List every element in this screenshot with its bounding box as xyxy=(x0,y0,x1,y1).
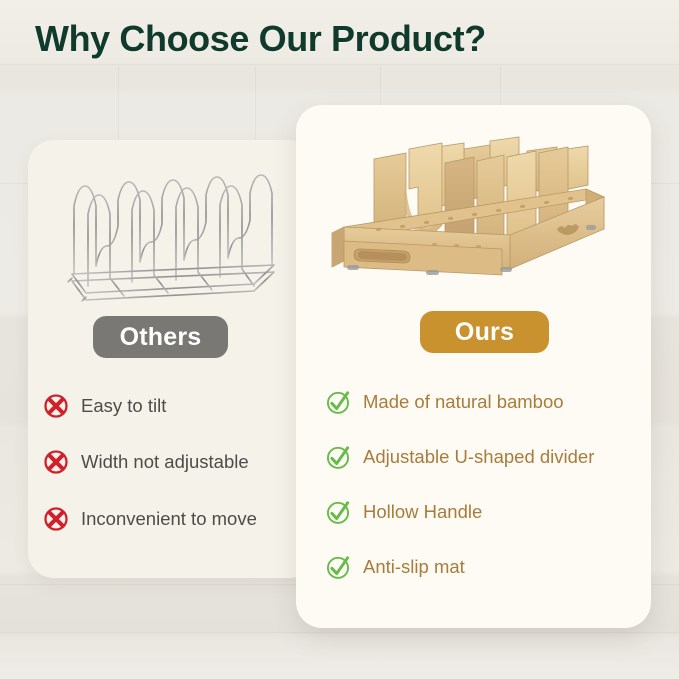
feature-label: Hollow Handle xyxy=(363,501,482,523)
feature-label: Inconvenient to move xyxy=(81,508,257,530)
badge-ours-label: Ours xyxy=(455,318,514,347)
badge-ours: Ours xyxy=(420,311,549,353)
product-image-ours xyxy=(314,117,634,307)
badge-others-label: Others xyxy=(120,323,202,352)
comparison-card-ours xyxy=(296,105,651,628)
feature-label: Easy to tilt xyxy=(81,395,166,417)
chrome-wire-rack-icon xyxy=(58,162,290,310)
feature-row-others-2: Inconvenient to move xyxy=(42,505,257,533)
x-circle-icon xyxy=(42,392,70,420)
product-image-others xyxy=(58,162,290,310)
infographic-page: Why Choose Our Product? xyxy=(0,0,679,679)
background-floor-line xyxy=(0,632,679,633)
check-circle-icon xyxy=(324,553,352,581)
x-circle-icon xyxy=(42,505,70,533)
feature-label: Anti-slip mat xyxy=(363,556,465,578)
feature-label: Made of natural bamboo xyxy=(363,391,564,413)
feature-row-others-1: Width not adjustable xyxy=(42,448,249,476)
feature-label: Width not adjustable xyxy=(81,451,249,473)
feature-row-ours-2: Hollow Handle xyxy=(324,498,482,526)
background-wall-seam xyxy=(0,64,679,65)
bamboo-pot-lid-organizer-icon xyxy=(314,117,634,307)
feature-row-ours-1: Adjustable U-shaped divider xyxy=(324,443,594,471)
check-circle-icon xyxy=(324,498,352,526)
check-circle-icon xyxy=(324,443,352,471)
background-wall-seam xyxy=(500,66,501,106)
badge-others: Others xyxy=(93,316,228,358)
feature-row-ours-0: Made of natural bamboo xyxy=(324,388,564,416)
background-wall-seam xyxy=(380,66,381,110)
feature-label: Adjustable U-shaped divider xyxy=(363,446,594,468)
x-circle-icon xyxy=(42,448,70,476)
page-title: Why Choose Our Product? xyxy=(35,19,645,59)
feature-row-others-0: Easy to tilt xyxy=(42,392,166,420)
feature-row-ours-3: Anti-slip mat xyxy=(324,553,465,581)
check-circle-icon xyxy=(324,388,352,416)
